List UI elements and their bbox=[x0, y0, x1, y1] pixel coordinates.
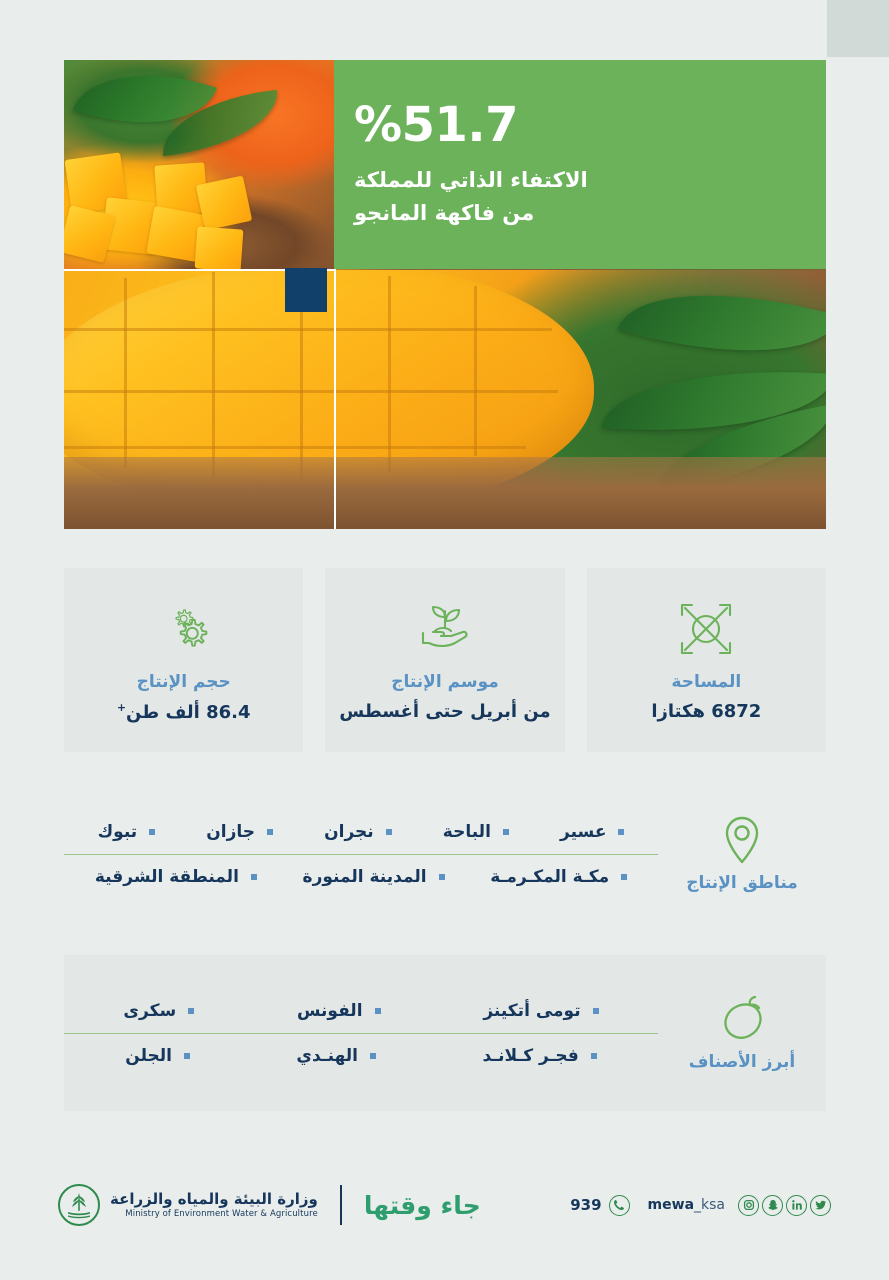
stat-card-area: المساحة 6872 هكتازا bbox=[587, 568, 826, 752]
bullet-icon bbox=[184, 1053, 190, 1059]
regions-rows: عسير الباحة نجران جازان تبوك مكـة المكـر… bbox=[64, 810, 658, 898]
hero-banner: %51.7 الاكتفاء الذاتي للمملكة من فاكهة ا… bbox=[64, 60, 826, 529]
regions-head: مناطق الإنتاج bbox=[658, 815, 826, 893]
ministry-text: وزارة البيئة والمياه والزراعة Ministry o… bbox=[110, 1190, 318, 1219]
bullet-icon bbox=[591, 1053, 597, 1059]
regions-row: عسير الباحة نجران جازان تبوك bbox=[64, 810, 658, 854]
stat-cards-row: المساحة 6872 هكتازا موسم الإنتاج من أبري… bbox=[64, 568, 826, 752]
mango-icon bbox=[716, 994, 768, 1048]
list-item: الهنـدي bbox=[296, 1046, 376, 1066]
bullet-icon bbox=[439, 874, 445, 880]
bullet-icon bbox=[386, 829, 392, 835]
footer-divider bbox=[340, 1185, 342, 1225]
variety-name: سكرى bbox=[123, 1001, 176, 1021]
phone-group[interactable]: 939 bbox=[570, 1195, 629, 1216]
snapchat-icon[interactable] bbox=[762, 1195, 783, 1216]
headline-line-2: من فاكهة المانجو bbox=[354, 197, 534, 230]
bullet-icon bbox=[621, 874, 627, 880]
list-item: الجلن bbox=[125, 1046, 190, 1066]
stat-card-value: من أبريل حتى أغسطس bbox=[339, 701, 550, 722]
bullet-icon bbox=[593, 1008, 599, 1014]
list-item: تومى أتكينز bbox=[483, 1001, 598, 1021]
list-item: المدينة المنورة bbox=[303, 867, 445, 887]
bullet-icon bbox=[618, 829, 624, 835]
variety-name: الجلن bbox=[125, 1046, 172, 1066]
headline-line-1: الاكتفاء الذاتي للمملكة bbox=[354, 164, 588, 197]
location-pin-icon bbox=[720, 815, 764, 869]
saudi-palm-swords-emblem bbox=[58, 1184, 100, 1226]
list-item: المنطقة الشرقية bbox=[95, 867, 257, 887]
ministry-name-en: Ministry of Environment Water & Agricult… bbox=[110, 1209, 318, 1220]
bullet-icon bbox=[149, 829, 155, 835]
region-name: تبوك bbox=[98, 822, 138, 842]
phone-number: 939 bbox=[570, 1196, 601, 1214]
region-name: مكـة المكـرمـة bbox=[490, 867, 609, 887]
social-handle: mewa_ksa bbox=[648, 1197, 725, 1213]
regions-label: مناطق الإنتاج bbox=[686, 873, 798, 893]
cutting-board bbox=[64, 457, 826, 529]
variety-name: الفونس bbox=[297, 1001, 363, 1021]
list-item: فجـر كـلانـد bbox=[482, 1046, 596, 1066]
stat-card-value: 6872 هكتازا bbox=[651, 701, 761, 722]
list-item: عسير bbox=[560, 822, 624, 842]
list-item: الفونس bbox=[297, 1001, 381, 1021]
stat-card-title: حجم الإنتاج bbox=[137, 672, 231, 692]
region-name: نجران bbox=[324, 822, 374, 842]
bullet-icon bbox=[503, 829, 509, 835]
varieties-rows: تومى أتكينز الفونس سكرى فجـر كـلانـد اله… bbox=[64, 989, 658, 1077]
instagram-icon[interactable] bbox=[738, 1195, 759, 1216]
campaign-logo: جاء وقتها bbox=[364, 1191, 481, 1220]
stat-card-title: المساحة bbox=[671, 672, 741, 692]
stat-card-season: موسم الإنتاج من أبريل حتى أغسطس bbox=[325, 568, 564, 752]
twitter-icon[interactable] bbox=[810, 1195, 831, 1216]
regions-row: مكـة المكـرمـة المدينة المنورة المنطقة ا… bbox=[64, 854, 658, 898]
bullet-icon bbox=[375, 1008, 381, 1014]
mango-cubes-photo bbox=[64, 60, 334, 270]
social-icons[interactable] bbox=[738, 1195, 831, 1216]
region-name: المنطقة الشرقية bbox=[95, 867, 239, 887]
region-name: عسير bbox=[560, 822, 606, 842]
production-regions-section: مناطق الإنتاج عسير الباحة نجران جازان تب… bbox=[64, 796, 826, 912]
variety-name: فجـر كـلانـد bbox=[482, 1046, 578, 1066]
region-name: المدينة المنورة bbox=[303, 867, 427, 887]
volume-superscript: + bbox=[117, 701, 126, 714]
variety-name: تومى أتكينز bbox=[483, 1001, 580, 1021]
stat-card-volume: حجم الإنتاج 86.4 ألف طن+ bbox=[64, 568, 303, 752]
top-varieties-section: أبرز الأصناف تومى أتكينز الفونس سكرى فجـ… bbox=[64, 955, 826, 1111]
bullet-icon bbox=[370, 1053, 376, 1059]
list-item: جازان bbox=[206, 822, 273, 842]
stat-card-title: موسم الإنتاج bbox=[391, 672, 499, 692]
hand-sprout-icon bbox=[415, 598, 475, 660]
area-expand-icon bbox=[678, 598, 734, 660]
varieties-row: تومى أتكينز الفونس سكرى bbox=[64, 989, 658, 1033]
varieties-row: فجـر كـلانـد الهنـدي الجلن bbox=[64, 1033, 658, 1077]
ministry-name-ar: وزارة البيئة والمياه والزراعة bbox=[110, 1190, 318, 1209]
corner-accent-block bbox=[827, 0, 889, 57]
self-sufficiency-percentage: %51.7 bbox=[354, 100, 518, 150]
list-item: تبوك bbox=[98, 822, 156, 842]
variety-name: الهنـدي bbox=[296, 1046, 358, 1066]
phone-icon bbox=[609, 1195, 630, 1216]
stat-card-value: 86.4 ألف طن+ bbox=[117, 701, 251, 723]
region-name: جازان bbox=[206, 822, 255, 842]
footer: وزارة البيئة والمياه والزراعة Ministry o… bbox=[0, 1170, 889, 1240]
list-item: الباحة bbox=[443, 822, 509, 842]
bullet-icon bbox=[267, 829, 273, 835]
headline-panel: %51.7 الاكتفاء الذاتي للمملكة من فاكهة ا… bbox=[334, 60, 826, 269]
bullet-icon bbox=[188, 1008, 194, 1014]
varieties-head: أبرز الأصناف bbox=[658, 994, 826, 1072]
scored-mango-photo bbox=[64, 270, 826, 529]
list-item: سكرى bbox=[123, 1001, 194, 1021]
infographic-page: %51.7 الاكتفاء الذاتي للمملكة من فاكهة ا… bbox=[0, 0, 889, 1280]
list-item: نجران bbox=[324, 822, 392, 842]
gears-icon bbox=[155, 598, 213, 660]
bullet-icon bbox=[251, 874, 257, 880]
varieties-label: أبرز الأصناف bbox=[689, 1052, 795, 1072]
ministry-logo: وزارة البيئة والمياه والزراعة Ministry o… bbox=[58, 1184, 318, 1226]
region-name: الباحة bbox=[443, 822, 491, 842]
volume-number: 86.4 ألف طن bbox=[126, 702, 250, 723]
handle-bold: mewa bbox=[648, 1197, 694, 1213]
social-links[interactable]: mewa_ksa bbox=[644, 1195, 831, 1216]
handle-suffix: _ksa bbox=[694, 1197, 725, 1213]
navy-accent-square bbox=[285, 268, 327, 312]
linkedin-icon[interactable] bbox=[786, 1195, 807, 1216]
list-item: مكـة المكـرمـة bbox=[490, 867, 627, 887]
